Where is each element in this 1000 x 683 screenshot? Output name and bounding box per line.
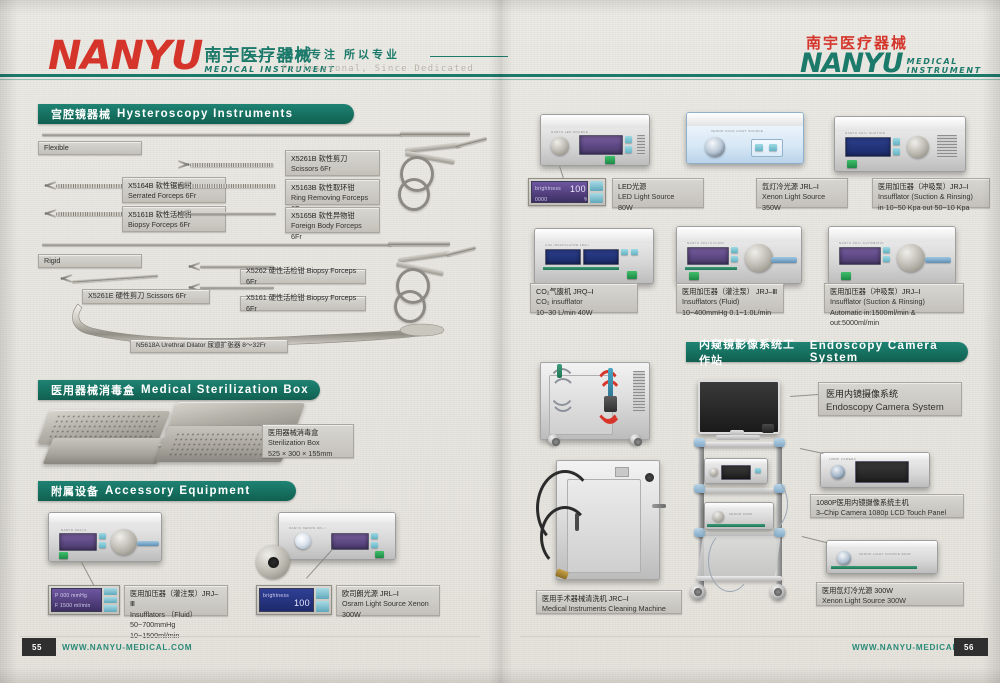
- cart-ls-port: [713, 511, 724, 522]
- led-output-port: [551, 137, 569, 155]
- device-top-panel-1: [49, 513, 161, 525]
- caption-x5161b: X5161B 软性活检钳 Biopsy Forceps 6Fr: [122, 206, 226, 232]
- device-top-panel-6: [535, 229, 653, 243]
- caption-r2a-en: CO₂ insufflator: [536, 297, 632, 307]
- power-indicator: [645, 473, 654, 482]
- popout-keys-2[interactable]: [316, 588, 329, 612]
- page-number-left: 55: [32, 643, 42, 652]
- suction-pump-head[interactable]: [897, 244, 925, 272]
- caption-acc2-en: Osram Light Source Xenon: [342, 599, 434, 609]
- caption-x5161b-en: Biopsy Forceps 6Fr: [128, 220, 220, 230]
- cleaning-machine-upper-caster-2: [630, 434, 641, 445]
- device-lcd-6a: [545, 249, 581, 265]
- device-top-panel-7: [677, 227, 801, 242]
- caption-n5618a: N5618A Urethral Dilator 尿道扩张器 8～32Fr: [130, 339, 288, 353]
- caption-sbox-size: 525 × 300 × 155mm: [268, 449, 348, 459]
- device-lcd-5: [845, 137, 891, 157]
- monitor-stand-base: [716, 435, 760, 440]
- caption-acc1-en: Insufflators （Fluid）: [130, 610, 222, 620]
- device-lcd-1: [59, 533, 97, 551]
- caption-endoscopy-camera-system: 医用内镜摄像系统 Endoscopy Camera System: [818, 382, 962, 416]
- lcd-line-2a: brightness: [263, 593, 289, 599]
- control-label-plate: [615, 467, 629, 477]
- caption-insufflator-suction-1: 医用加压器（冲吸泵）JRJ–Ⅰ Insufflator (Suction & R…: [872, 178, 990, 208]
- device-power-button-6[interactable]: [627, 271, 637, 279]
- cleaning-machine-upper-caster-1: [548, 434, 559, 445]
- lcd-brightness-label: brightness: [535, 186, 561, 192]
- black-hose-2: [540, 506, 590, 568]
- sterilization-box-closed: [42, 408, 172, 470]
- caption-r2b-en: Insufflators (Fluid): [682, 297, 778, 307]
- device-brandmark-3: NANYU LED SOURCE: [551, 130, 588, 134]
- section-header-hysteroscopy: 宫腔镜器械 Hysteroscopy Instruments: [38, 104, 354, 124]
- slogan-dash-left: [248, 56, 274, 57]
- instrument-jaw-biopsy: [44, 209, 56, 218]
- device-key-3b[interactable]: [625, 146, 632, 153]
- device-lcd-2: [331, 533, 369, 550]
- caption-r1c-spec: in 10~50 Kpa out 50~10 Kpa: [878, 203, 984, 213]
- device-brandmark-7: NANYU JRJ-III FLUID: [687, 241, 724, 245]
- caption-x5165b: X5165B 软性异物钳 Foreign Body Forceps 6Fr: [285, 207, 380, 233]
- device-key-5b[interactable]: [893, 148, 900, 155]
- caption-n5618a-text: N5618A Urethral Dilator 尿道扩张器 8～32Fr: [136, 341, 266, 351]
- popout-keys-1[interactable]: [104, 588, 117, 612]
- device-knob-5[interactable]: [907, 136, 929, 158]
- section-camera-en: Endoscopy Camera System: [810, 340, 968, 364]
- caption-cleaning-machine: 医用手术器械清洗机 JRC–Ⅰ Medical Instruments Clea…: [536, 590, 682, 614]
- page-edge-top: [0, 0, 1000, 14]
- rigid-shaft-scissors: [72, 274, 158, 283]
- light-guide-cable: [730, 472, 788, 536]
- xenon-output-port: [705, 137, 725, 157]
- device-tube-connector-8: [925, 257, 951, 263]
- device-power-button-2[interactable]: [375, 551, 384, 558]
- brand-logo-right: 南宇医疗器械 NANYU MEDICAL INSTRUMENT: [800, 36, 982, 77]
- group-flexible-text: Flexible: [44, 143, 69, 153]
- device-top-panel-5: [835, 117, 965, 131]
- caption-ccu-cn: 1080P医用内镜摄像系统主机: [816, 498, 958, 508]
- catalog-spread: NANYU 南宇医疗器械 MEDICAL INSTRUMENT 因为专注 所以专…: [0, 0, 1000, 683]
- caption-r1a-spec: 80W: [618, 203, 698, 213]
- device-key-5a[interactable]: [893, 138, 900, 145]
- popout-lcd-light-source: brightness 100: [256, 585, 332, 615]
- power-cable: [708, 530, 752, 592]
- device-lcd-8: [839, 247, 881, 265]
- caption-xen-en: Xenon Light Source 300W: [822, 596, 958, 606]
- caption-x5262-text: X5262 硬性活检钳 Biopsy Forceps 6Fr: [246, 266, 360, 287]
- lcd-sub-label: 0000: [535, 197, 547, 203]
- rigid-handle-tail: [446, 245, 476, 256]
- device-key-3a[interactable]: [625, 136, 632, 143]
- camera-head: [762, 424, 774, 433]
- popout-lcd-screen-1: P 000 mmHg F 1500 ml/min: [51, 588, 102, 612]
- callout-ccu-device: 1080P CAMERA: [820, 452, 930, 488]
- caption-x5163b: X5163B 软性取环钳 Ring Removing Forceps 6Fr: [285, 179, 380, 205]
- device-vent-5: [937, 135, 957, 159]
- caption-x5164b-en: Serrated Forceps 6Fr: [128, 191, 220, 201]
- caption-osram-light-source: 欧司朗光源 JRL–Ⅰ Osram Light Source Xenon 300…: [336, 585, 440, 616]
- page-edge-bottom: [0, 667, 1000, 683]
- caption-x5261b-en: Scissors 6Fr: [291, 164, 374, 174]
- instrument-coil-ring: [190, 184, 276, 188]
- caption-r2c-en: Insufflator (Suction & Rinsing): [830, 297, 958, 307]
- green-nozzle: [557, 364, 562, 378]
- device-top-panel-3: [541, 115, 649, 128]
- callout-xenon-device: XENON LIGHT SOURCE 300W: [826, 540, 938, 574]
- caption-insufflator-fluid: 医用加压器（灌注泵）JRJ–Ⅲ Insufflators （Fluid） 50~…: [124, 585, 228, 616]
- logo-wordmark-left: NANYU: [48, 36, 202, 76]
- light-output-port: [295, 533, 311, 549]
- device-led-light-source: NANYU LED SOURCE: [540, 114, 650, 166]
- cart-cap-1b: [774, 438, 785, 447]
- cart-cap-3a: [694, 528, 705, 537]
- caption-r1a-cn: LED光源: [618, 182, 698, 192]
- device-power-button-8[interactable]: [841, 272, 851, 280]
- instrument-jaw-scissors: [178, 160, 190, 169]
- page-edge-right: [982, 0, 1000, 683]
- ccu-camera-port: [710, 468, 718, 476]
- section-header-sterilization: 医用器械消毒盒 Medical Sterilization Box: [38, 380, 320, 400]
- device-insufflator-suction-1: NANYU JRJ-I SUCTION: [834, 116, 966, 172]
- device-key-7a[interactable]: [731, 247, 738, 253]
- caption-ccu-en: 3–Chip Camera 1080p LCD Touch Panel: [816, 508, 958, 518]
- popout-lcd-insufflator: P 000 mmHg F 1500 ml/min: [48, 585, 120, 615]
- lcd-line-1b: F 1500 ml/min: [55, 603, 91, 609]
- caption-insufflator-fluid-2: 医用加压器（灌注泵） JRJ–Ⅲ Insufflators (Fluid) 10…: [676, 283, 784, 313]
- caption-r1c-en: Insufflator (Suction & Rinsing): [878, 192, 984, 202]
- cart-caster-left: [690, 584, 706, 600]
- section-sterilization-en: Medical Sterilization Box: [141, 384, 309, 396]
- logo-sub2-right: INSTRUMENT: [907, 67, 982, 75]
- caption-r1a-en: LED Light Source: [618, 192, 698, 202]
- caption-x5262: X5262 硬性活检钳 Biopsy Forceps 6Fr: [240, 269, 366, 284]
- page-gutter-shadow: [489, 0, 513, 683]
- rigid-jaw-scissors: [60, 274, 72, 283]
- section-header-accessory: 附属设备 Accessory Equipment: [38, 481, 296, 501]
- slogan-english: Professional, Since Dedicated: [282, 64, 474, 74]
- device-brandmark-1: NANYU JRJ-III: [61, 528, 86, 532]
- device-key-1b[interactable]: [99, 542, 106, 548]
- callout-xenon-label: XENON LIGHT SOURCE 300W: [859, 552, 911, 556]
- caption-r1b-spec: 350W: [762, 203, 842, 213]
- device-co2-insufflator: CO2 INSUFFLATOR JRQ-I: [534, 228, 654, 284]
- device-brandmark-5: NANYU JRJ-I SUCTION: [845, 131, 885, 135]
- device-brandmark-2: NANYU XENON JRL-I: [289, 526, 326, 530]
- group-rigid-text: Rigid: [44, 256, 60, 266]
- popout-keys-3[interactable]: [590, 181, 603, 203]
- device-knob-1[interactable]: [111, 529, 137, 555]
- device-key-7b[interactable]: [731, 256, 738, 262]
- caption-xenon-callout: 医用氙灯冷光源 300W Xenon Light Source 300W: [816, 582, 964, 606]
- caption-sbox-cn: 医用器械消毒盒: [268, 428, 348, 438]
- callout-xenon-port: [837, 551, 851, 565]
- callout-ccu-port: [831, 465, 845, 479]
- device-key-2a[interactable]: [371, 533, 378, 539]
- slogan-chinese: 因为专注 所以专业: [282, 46, 474, 62]
- caption-xenon-light-source: 氙灯冷光源 JRL–Ⅰ Xenon Light Source 350W: [756, 178, 848, 208]
- logo-wordmark-right: NANYU: [800, 50, 903, 77]
- device-power-button-7[interactable]: [689, 272, 699, 280]
- section-accessory-en: Accessory Equipment: [105, 485, 251, 497]
- rigid-handle-arm-1: [398, 250, 450, 262]
- device-accent-stripe-7: [685, 267, 737, 270]
- cart-shelf-1: [696, 442, 782, 447]
- footer-rule-left: [20, 636, 480, 637]
- instrument-shaft-foreign: [190, 212, 276, 215]
- device-key-6a[interactable]: [621, 249, 628, 255]
- gray-hose-coil-2: [550, 378, 576, 412]
- caption-r2b-cn: 医用加压器（灌注泵） JRJ–Ⅲ: [682, 287, 778, 297]
- caption-acc2-cn: 欧司朗光源 JRL–Ⅰ: [342, 589, 434, 599]
- caption-x5163b-cn: X5163B 软性取环钳: [291, 183, 374, 193]
- spray-gun-handle: [604, 396, 617, 412]
- footer-rule-right: [520, 636, 980, 637]
- caption-acc1-spec: 50~700mmHg 10~1500ml/min: [130, 620, 222, 641]
- lcd-line-2b: 100: [294, 598, 310, 608]
- rigid-scope-shaft: [42, 243, 392, 246]
- popout-lcd-screen-2: brightness 100: [259, 588, 314, 612]
- section-camera-cn: 内窥镜影像系统工作站: [699, 336, 804, 368]
- device-lcd-6b: [583, 249, 619, 265]
- caption-acc1-cn: 医用加压器（灌注泵）JRJ–Ⅲ: [130, 589, 222, 610]
- sterilization-box-body: [43, 438, 168, 464]
- device-lcd-3: [579, 135, 623, 155]
- device-power-button-5[interactable]: [847, 160, 857, 168]
- caption-led-light-source: LED光源 LED Light Source 80W: [612, 178, 704, 208]
- rigid-shaft-2: [200, 286, 274, 289]
- device-xenon-light-source: XENON COLD LIGHT SOURCE: [686, 112, 804, 164]
- device-lcd-7: [687, 247, 729, 265]
- header-rule-thin: [0, 79, 1000, 80]
- caption-r1b-en: Xenon Light Source: [762, 192, 842, 202]
- caption-cam-cn: 医用内镜摄像系统: [826, 388, 954, 401]
- group-label-rigid: Rigid: [38, 254, 142, 268]
- xenon-key-a[interactable]: [755, 144, 763, 151]
- caption-r2c-cn: 医用加压器（冲吸泵）JRJ–Ⅰ: [830, 287, 958, 297]
- device-osram-light-source: NANYU XENON JRL-I: [278, 512, 396, 560]
- caption-r2b-spec: 10~400mmHg 0.1~1.0L/min: [682, 308, 778, 318]
- cleaning-machine-vent: [633, 371, 645, 413]
- xenon-control-panel: [751, 139, 783, 157]
- device-power-button-3[interactable]: [605, 156, 615, 164]
- device-power-button-1[interactable]: [59, 552, 68, 559]
- lcd-brightness-value: 100: [570, 184, 586, 194]
- lcd-line-1a: P 000 mmHg: [55, 593, 87, 599]
- device-key-8b[interactable]: [883, 256, 890, 262]
- device-key-2b[interactable]: [371, 542, 378, 548]
- caption-insufflator-suction-2: 医用加压器（冲吸泵）JRJ–Ⅰ Insufflator (Suction & R…: [824, 283, 964, 313]
- group-label-flexible: Flexible: [38, 141, 142, 155]
- section-accessory-cn: 附属设备: [51, 483, 99, 499]
- section-header-camera-system: 内窥镜影像系统工作站 Endoscopy Camera System: [686, 342, 968, 362]
- endoscopy-cart: XENON 300W: [690, 380, 810, 616]
- caption-r1b-cn: 氙灯冷光源 JRL–Ⅰ: [762, 182, 842, 192]
- caption-r2c-spec: Automatic in:1500ml/min & out:5000ml/min: [830, 308, 958, 329]
- caption-r1c-cn: 医用加压器（冲吸泵）JRJ–Ⅰ: [878, 182, 984, 192]
- flexible-scope-shaft: [42, 133, 402, 136]
- cart-cap-2a: [694, 484, 705, 493]
- caption-washer-en: Medical Instruments Cleaning Machine: [542, 604, 676, 614]
- caption-x5164b: X5164B 软性锯齿钳 Serrated Forceps 6Fr: [122, 177, 226, 203]
- device-vent-3: [637, 135, 645, 155]
- device-brandmark-6: CO2 INSUFFLATOR JRQ-I: [545, 243, 590, 247]
- caption-x5261b-cn: X5261B 软性剪刀: [291, 154, 374, 164]
- caption-acc2-spec: 300W: [342, 610, 434, 620]
- side-connector: [652, 504, 666, 508]
- caption-r2a-cn: CO₂气腹机 JRQ–Ⅰ: [536, 287, 632, 297]
- perforation-pattern-lid: [47, 414, 162, 440]
- caption-x5165b-en: Foreign Body Forceps 6Fr: [291, 221, 374, 242]
- cart-cap-1a: [694, 438, 705, 447]
- light-guide-aperture: [268, 557, 279, 568]
- callout-xenon-top: [827, 541, 937, 549]
- device-top-panel-4: [687, 113, 803, 126]
- device-tube-connector-7: [771, 257, 797, 263]
- section-sterilization-cn: 医用器械消毒盒: [51, 382, 135, 398]
- device-key-6b[interactable]: [631, 249, 638, 255]
- device-insufflator-fluid-2: NANYU JRJ-III FLUID: [676, 226, 802, 284]
- slogan-dash-right: [430, 56, 508, 57]
- caption-co2-insufflator: CO₂气腹机 JRQ–Ⅰ CO₂ insufflator 10~30 L/min…: [530, 283, 638, 313]
- rigid-jaw-1: [188, 262, 200, 271]
- callout-ccu-panel[interactable]: [855, 461, 909, 483]
- caption-r2a-spec: 10~30 L/min 40W: [536, 308, 632, 318]
- device-brandmark-8: NANYU JRJ-I AUTOMATIC: [839, 241, 884, 245]
- xenon-key-b[interactable]: [769, 144, 777, 151]
- slogan-block: 因为专注 所以专业 Professional, Since Dedicated: [282, 46, 474, 74]
- caption-sterilization-box: 医用器械消毒盒 Sterilization Box 525 × 300 × 15…: [262, 424, 354, 458]
- cart-caster-right: [770, 584, 786, 600]
- instrument-jaw-serrated: [44, 181, 56, 190]
- flexible-scope-body: [400, 131, 470, 136]
- popout-lcd-led: brightness 100 0000 %: [528, 178, 606, 206]
- instrument-jaw-ring: [178, 181, 190, 190]
- device-tube-connector-1: [137, 541, 159, 546]
- device-insufflator-fluid: NANYU JRJ-III: [48, 512, 162, 562]
- instrument-coil-scissors: [190, 163, 274, 167]
- caption-xen-cn: 医用氙灯冷光源 300W: [822, 586, 958, 596]
- device-top-panel-2: [279, 513, 395, 525]
- popout-lcd-screen-3: brightness 100 0000 %: [531, 181, 588, 203]
- device-accent-stripe-6: [543, 267, 619, 270]
- caption-x5261b: X5261B 软性剪刀 Scissors 6Fr: [285, 150, 380, 176]
- device-key-1a[interactable]: [99, 533, 106, 539]
- caption-sbox-en: Sterilization Box: [268, 438, 348, 448]
- section-hysteroscopy-cn: 宫腔镜器械: [51, 106, 111, 122]
- page-edge-left: [0, 0, 18, 683]
- instrument-jaw-foreign: [178, 209, 190, 218]
- caption-ccu: 1080P医用内镜摄像系统主机 3–Chip Camera 1080p LCD …: [810, 494, 964, 518]
- callout-ccu-label: 1080P CAMERA: [829, 457, 856, 461]
- callout-xenon-stripe: [831, 566, 917, 569]
- device-brandmark-4: XENON COLD LIGHT SOURCE: [711, 129, 763, 133]
- page-number-right: 56: [964, 643, 974, 652]
- handle-ring-2: [398, 178, 430, 211]
- section-hysteroscopy-en: Hysteroscopy Instruments: [117, 108, 293, 120]
- caption-washer-cn: 医用手术器械清洗机 JRC–Ⅰ: [542, 594, 676, 604]
- device-key-8a[interactable]: [883, 247, 890, 253]
- caption-cam-en: Endoscopy Camera System: [826, 401, 954, 415]
- lcd-sub-unit: %: [584, 197, 588, 203]
- device-insufflator-suction-2: NANYU JRJ-I AUTOMATIC: [828, 226, 956, 284]
- caption-x5165b-cn: X5165B 软性异物钳: [291, 211, 374, 221]
- footer-url-left: WWW.NANYU-MEDICAL.COM: [62, 643, 192, 652]
- peristaltic-pump-head[interactable]: [745, 244, 773, 272]
- device-top-panel-8: [829, 227, 955, 242]
- handle-tail: [455, 136, 487, 148]
- rigid-scope-body: [388, 241, 450, 246]
